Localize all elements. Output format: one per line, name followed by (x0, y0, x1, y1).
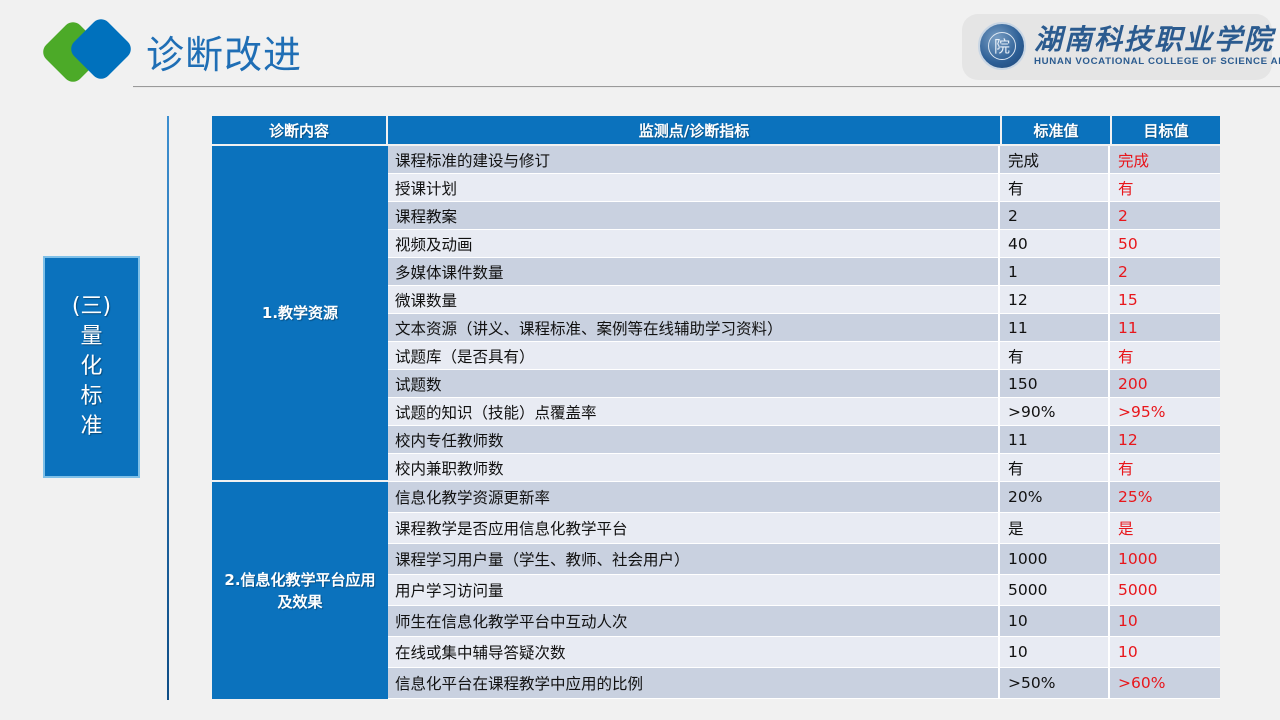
standard-value-cell: 11 (1000, 426, 1110, 453)
table-row: 授课计划有有 (388, 174, 1220, 202)
indicator-cell: 文本资源（讲义、课程标准、案例等在线辅助学习资料） (388, 314, 1000, 341)
indicator-cell: 课程学习用户量（学生、教师、社会用户） (388, 544, 1000, 574)
target-value-cell: 5000 (1110, 575, 1220, 605)
target-value-cell: 15 (1110, 286, 1220, 313)
seal-inner-glyph: 院 (988, 32, 1016, 60)
table-row: 信息化教学资源更新率20%25% (388, 482, 1220, 513)
standard-value-cell: 有 (1000, 454, 1110, 481)
standard-value-cell: >90% (1000, 398, 1110, 425)
column-header-category: 诊断内容 (212, 116, 388, 144)
standard-value-cell: 2 (1000, 202, 1110, 229)
standard-value-cell: 10 (1000, 606, 1110, 636)
left-vertical-rule (167, 116, 169, 700)
column-header-standard: 标准值 (1002, 116, 1112, 144)
table-row: 试题的知识（技能）点覆盖率>90%>95% (388, 398, 1220, 426)
category-column: 1.教学资源2.信息化教学平台应用及效果 (212, 146, 388, 699)
indicator-cell: 试题的知识（技能）点覆盖率 (388, 398, 1000, 425)
slide-header: 诊断改进 院 湖南科技职业学院 HUNAN VOCATIONAL COLLEGE… (0, 0, 1280, 92)
target-value-cell: 有 (1110, 174, 1220, 201)
table-row: 校内专任教师数1112 (388, 426, 1220, 454)
indicator-cell: 试题库（是否具有） (388, 342, 1000, 369)
standard-value-cell: 12 (1000, 286, 1110, 313)
category-cell: 2.信息化教学平台应用及效果 (212, 482, 388, 699)
indicator-cell: 信息化平台在课程教学中应用的比例 (388, 668, 1000, 698)
section-label-line: (三) (72, 292, 111, 322)
indicator-cell: 课程教案 (388, 202, 1000, 229)
indicator-cell: 用户学习访问量 (388, 575, 1000, 605)
target-value-cell: 25% (1110, 482, 1220, 512)
section-label-line: 标 (80, 382, 102, 412)
table-row: 课程教学是否应用信息化教学平台是是 (388, 513, 1220, 544)
indicator-cell: 师生在信息化教学平台中互动人次 (388, 606, 1000, 636)
standard-value-cell: 5000 (1000, 575, 1110, 605)
page-title: 诊断改进 (146, 24, 302, 79)
table-row: 微课数量1215 (388, 286, 1220, 314)
section-label-line: 化 (80, 352, 102, 382)
indicator-cell: 课程标准的建设与修订 (388, 146, 1000, 173)
table-row: 用户学习访问量50005000 (388, 575, 1220, 606)
section-label-line: 准 (80, 412, 102, 442)
indicator-cell: 校内专任教师数 (388, 426, 1000, 453)
header-divider (133, 86, 1280, 88)
school-logo: 院 湖南科技职业学院 HUNAN VOCATIONAL COLLEGE OF S… (962, 14, 1272, 80)
table-row: 在线或集中辅导答疑次数1010 (388, 637, 1220, 668)
standard-value-cell: 10 (1000, 637, 1110, 667)
standard-value-cell: 11 (1000, 314, 1110, 341)
category-cell: 1.教学资源 (212, 146, 388, 482)
target-value-cell: 是 (1110, 513, 1220, 543)
section-label-box: (三) 量 化 标 准 (43, 256, 140, 478)
school-name-cn: 湖南科技职业学院 (1034, 18, 1274, 58)
column-header-target: 目标值 (1112, 116, 1220, 144)
indicator-rows: 课程标准的建设与修订完成完成授课计划有有课程教案22视频及动画4050多媒体课件… (388, 146, 1220, 699)
table-row: 课程标准的建设与修订完成完成 (388, 146, 1220, 174)
criteria-table: 诊断内容 监测点/诊断指标 标准值 目标值 1.教学资源2.信息化教学平台应用及… (212, 116, 1220, 699)
standard-value-cell: 有 (1000, 342, 1110, 369)
target-value-cell: >95% (1110, 398, 1220, 425)
table-row: 视频及动画4050 (388, 230, 1220, 258)
table-row: 试题库（是否具有）有有 (388, 342, 1220, 370)
indicator-cell: 授课计划 (388, 174, 1000, 201)
indicator-cell: 视频及动画 (388, 230, 1000, 257)
target-value-cell: 2 (1110, 258, 1220, 285)
indicator-cell: 信息化教学资源更新率 (388, 482, 1000, 512)
indicator-cell: 课程教学是否应用信息化教学平台 (388, 513, 1000, 543)
indicator-cell: 在线或集中辅导答疑次数 (388, 637, 1000, 667)
target-value-cell: 有 (1110, 342, 1220, 369)
target-value-cell: 12 (1110, 426, 1220, 453)
table-row: 课程学习用户量（学生、教师、社会用户）10001000 (388, 544, 1220, 575)
indicator-cell: 校内兼职教师数 (388, 454, 1000, 481)
indicator-cell: 多媒体课件数量 (388, 258, 1000, 285)
table-row: 多媒体课件数量12 (388, 258, 1220, 286)
standard-value-cell: 1 (1000, 258, 1110, 285)
target-value-cell: 200 (1110, 370, 1220, 397)
standard-value-cell: 是 (1000, 513, 1110, 543)
brand-diamond-logo (47, 22, 143, 82)
target-value-cell: 10 (1110, 606, 1220, 636)
target-value-cell: 11 (1110, 314, 1220, 341)
table-header-row: 诊断内容 监测点/诊断指标 标准值 目标值 (212, 116, 1220, 144)
table-row: 课程教案22 (388, 202, 1220, 230)
table-row: 试题数150200 (388, 370, 1220, 398)
section-label-line: 量 (80, 322, 102, 352)
table-row: 师生在信息化教学平台中互动人次1010 (388, 606, 1220, 637)
table-row: 信息化平台在课程教学中应用的比例>50%>60% (388, 668, 1220, 699)
standard-value-cell: 20% (1000, 482, 1110, 512)
target-value-cell: 10 (1110, 637, 1220, 667)
column-header-indicator: 监测点/诊断指标 (388, 116, 1002, 144)
standard-value-cell: >50% (1000, 668, 1110, 698)
standard-value-cell: 1000 (1000, 544, 1110, 574)
table-row: 文本资源（讲义、课程标准、案例等在线辅助学习资料）1111 (388, 314, 1220, 342)
table-row: 校内兼职教师数有有 (388, 454, 1220, 482)
school-seal-icon: 院 (978, 22, 1026, 70)
school-name-en: HUNAN VOCATIONAL COLLEGE OF SCIENCE AND … (1034, 56, 1280, 67)
standard-value-cell: 有 (1000, 174, 1110, 201)
table-body: 1.教学资源2.信息化教学平台应用及效果 课程标准的建设与修订完成完成授课计划有… (212, 146, 1220, 699)
target-value-cell: >60% (1110, 668, 1220, 698)
target-value-cell: 2 (1110, 202, 1220, 229)
target-value-cell: 50 (1110, 230, 1220, 257)
indicator-cell: 微课数量 (388, 286, 1000, 313)
standard-value-cell: 完成 (1000, 146, 1110, 173)
standard-value-cell: 40 (1000, 230, 1110, 257)
indicator-cell: 试题数 (388, 370, 1000, 397)
target-value-cell: 1000 (1110, 544, 1220, 574)
target-value-cell: 完成 (1110, 146, 1220, 173)
target-value-cell: 有 (1110, 454, 1220, 481)
standard-value-cell: 150 (1000, 370, 1110, 397)
